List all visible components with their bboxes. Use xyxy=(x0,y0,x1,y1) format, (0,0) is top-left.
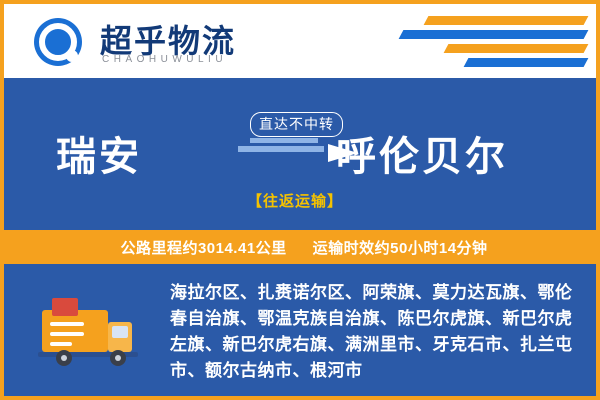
card-header: 超乎物流 CHAOHUWULIU xyxy=(4,4,600,78)
circle-logo-icon xyxy=(34,18,82,66)
brand-pinyin: CHAOHUWULIU xyxy=(102,54,227,65)
stripe-blue-1 xyxy=(399,30,589,39)
route-section: 瑞安 直达不中转 呼伦贝尔 【往返运输】 xyxy=(4,78,600,230)
logistics-route-card: 超乎物流 CHAOHUWULIU 瑞安 直达不中转 呼伦贝尔 【往返运输】 公路… xyxy=(0,0,600,400)
coverage-section: 海拉尔区、扎赉诺尔区、阿荣旗、莫力达瓦旗、鄂伦春自治旗、鄂温克族自治旗、陈巴尔虎… xyxy=(4,264,600,400)
distance-text: 公路里程约3014.41公里 xyxy=(120,237,286,258)
destination-city: 呼伦贝尔 xyxy=(336,124,508,182)
stripe-orange-2 xyxy=(444,44,589,53)
delivery-truck-icon xyxy=(38,288,146,372)
stripe-orange-1 xyxy=(424,16,589,25)
stripe-blue-2 xyxy=(464,58,589,67)
header-stripes-decoration xyxy=(386,16,586,66)
round-trip-badge: 【往返运输】 xyxy=(247,190,343,211)
logo-ring-shape xyxy=(39,23,77,61)
info-bar: 公路里程约3014.41公里 运输时效约50小时14分钟 xyxy=(4,230,600,264)
duration-text: 运输时效约50小时14分钟 xyxy=(313,237,488,258)
coverage-areas-text: 海拉尔区、扎赉诺尔区、阿荣旗、莫力达瓦旗、鄂伦春自治旗、鄂温克族自治旗、陈巴尔虎… xyxy=(170,280,582,384)
origin-city: 瑞安 xyxy=(56,124,142,182)
